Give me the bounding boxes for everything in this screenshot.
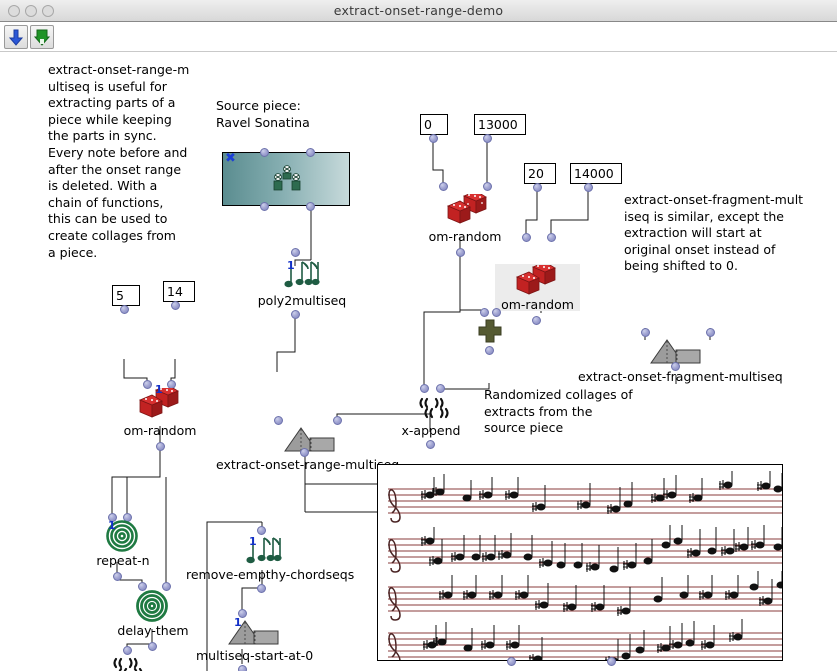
arrow-down-green-icon <box>34 29 50 46</box>
green-down-arrow-button[interactable] <box>30 25 54 49</box>
poly-outlet-2[interactable] <box>306 202 315 211</box>
node-label-x-append: x-append <box>399 424 463 438</box>
window-title: extract-onset-range-demo <box>0 0 837 22</box>
node-label-repeat-n: repeat-n <box>83 554 163 568</box>
x-append-outlet[interactable] <box>426 440 435 449</box>
badge-count: 1 <box>155 384 163 395</box>
close-icon[interactable]: ✖ <box>225 153 236 165</box>
left-comment: extract-onset-range-m ultiseq is useful … <box>48 62 208 261</box>
score-outlet-1[interactable] <box>507 657 516 666</box>
fragment-comment: extract-onset-fragment-mult iseq is simi… <box>624 192 824 275</box>
flat-inlet[interactable] <box>123 646 132 655</box>
music-score <box>378 465 783 661</box>
numbox-5-outlet[interactable] <box>120 305 129 314</box>
repeat-n-outlet[interactable] <box>113 572 122 581</box>
blue-down-arrow-button[interactable] <box>4 25 28 49</box>
numbox-14000[interactable]: 14000 <box>570 163 622 184</box>
numbox-0-outlet[interactable] <box>429 134 438 143</box>
poly2multiseq-outlet[interactable] <box>291 310 300 319</box>
node-label-poly2multiseq: poly2multiseq <box>252 294 352 308</box>
om-random-left-outlet[interactable] <box>156 442 165 451</box>
plus-icon <box>475 319 505 345</box>
delay-them-outlet[interactable] <box>148 642 157 651</box>
badge-count: 1 <box>234 617 242 628</box>
window-titlebar: extract-onset-range-demo <box>0 0 837 22</box>
node-label-om-random-left: om-random <box>116 424 204 438</box>
x-append-inlet-1[interactable] <box>420 384 429 393</box>
numbox-13000[interactable]: 13000 <box>474 114 526 135</box>
badge-count: 1 <box>108 520 116 531</box>
badge-count: 1 <box>249 536 257 547</box>
numbox-13000-outlet[interactable] <box>483 134 492 143</box>
source-piece-comment: Source piece: Ravel Sonatina <box>216 98 396 131</box>
spiral-icon <box>135 590 171 624</box>
om-random-tl-outlet[interactable] <box>456 248 465 257</box>
node-label-om-random-top-left: om-random <box>415 230 515 244</box>
om-random-tl-inlet-1[interactable] <box>439 182 448 191</box>
dice-icon <box>444 194 490 228</box>
poly-inlet-1[interactable] <box>260 148 269 157</box>
om-random-tr-inlet-2[interactable] <box>547 233 556 242</box>
numbox-0[interactable]: 0 <box>420 114 448 135</box>
node-label-extract-onset-fragment-multiseq: extract-onset-fragment-multiseq <box>578 370 774 384</box>
patch-canvas[interactable]: extract-onset-range-m ultiseq is useful … <box>0 52 837 671</box>
score-outlet-2[interactable] <box>607 657 616 666</box>
numbox-20[interactable]: 20 <box>524 163 556 184</box>
numbox-14000-outlet[interactable] <box>584 183 593 192</box>
numbox-14-outlet[interactable] <box>171 301 180 310</box>
numbox-14[interactable]: 14 <box>163 281 195 302</box>
node-label-remove-empthy-chordseqs: remove-empthy-chordseqs <box>186 568 338 582</box>
om-plus-inlet-2[interactable] <box>492 308 501 317</box>
node-label-extract-onset-range-multiseq: extract-onset-range-multiseq <box>216 458 394 472</box>
om-random-tl-inlet-2[interactable] <box>483 182 492 191</box>
om-random-tr-inlet-1[interactable] <box>522 233 531 242</box>
eorm-outlet[interactable] <box>300 448 309 457</box>
score-multiseq-box[interactable] <box>377 464 783 661</box>
x-append-inlet-2[interactable] <box>436 384 445 393</box>
node-label-om-random-top-right: om-random <box>490 298 585 312</box>
trapezoid-icon <box>648 336 710 366</box>
numbox-20-outlet[interactable] <box>533 183 542 192</box>
node-label-delay-them: delay-them <box>113 624 193 638</box>
badge-count: 1 <box>287 260 295 271</box>
toolbar <box>0 22 837 52</box>
node-label-multiseq-start-at-0: multiseq-start-at-0 <box>196 649 312 663</box>
application-window: extract-onset-range-demo <box>0 0 837 671</box>
om-random-tr-outlet[interactable] <box>532 316 541 325</box>
numbox-5[interactable]: 5 <box>112 285 140 306</box>
brackets-icon <box>415 396 455 426</box>
collages-comment: Randomized collages of extracts from the… <box>484 387 674 437</box>
eofm-outlet[interactable] <box>671 362 680 371</box>
brackets-icon <box>109 656 149 671</box>
poly-outlet-1[interactable] <box>260 202 269 211</box>
poly-inlet-2[interactable] <box>306 148 315 157</box>
arrow-down-blue-icon <box>8 29 24 46</box>
msa0-outlet[interactable] <box>238 665 247 671</box>
rec-outlet[interactable] <box>257 584 266 593</box>
om-plus-inlet-1[interactable] <box>480 308 489 317</box>
poly-people-icon <box>267 165 307 195</box>
om-plus-outlet[interactable] <box>485 346 494 355</box>
dice-icon <box>513 265 559 299</box>
poly2multiseq-inlet[interactable] <box>291 248 300 257</box>
source-poly-box[interactable]: ✖ <box>222 152 350 206</box>
trapezoid-icon <box>282 424 344 454</box>
